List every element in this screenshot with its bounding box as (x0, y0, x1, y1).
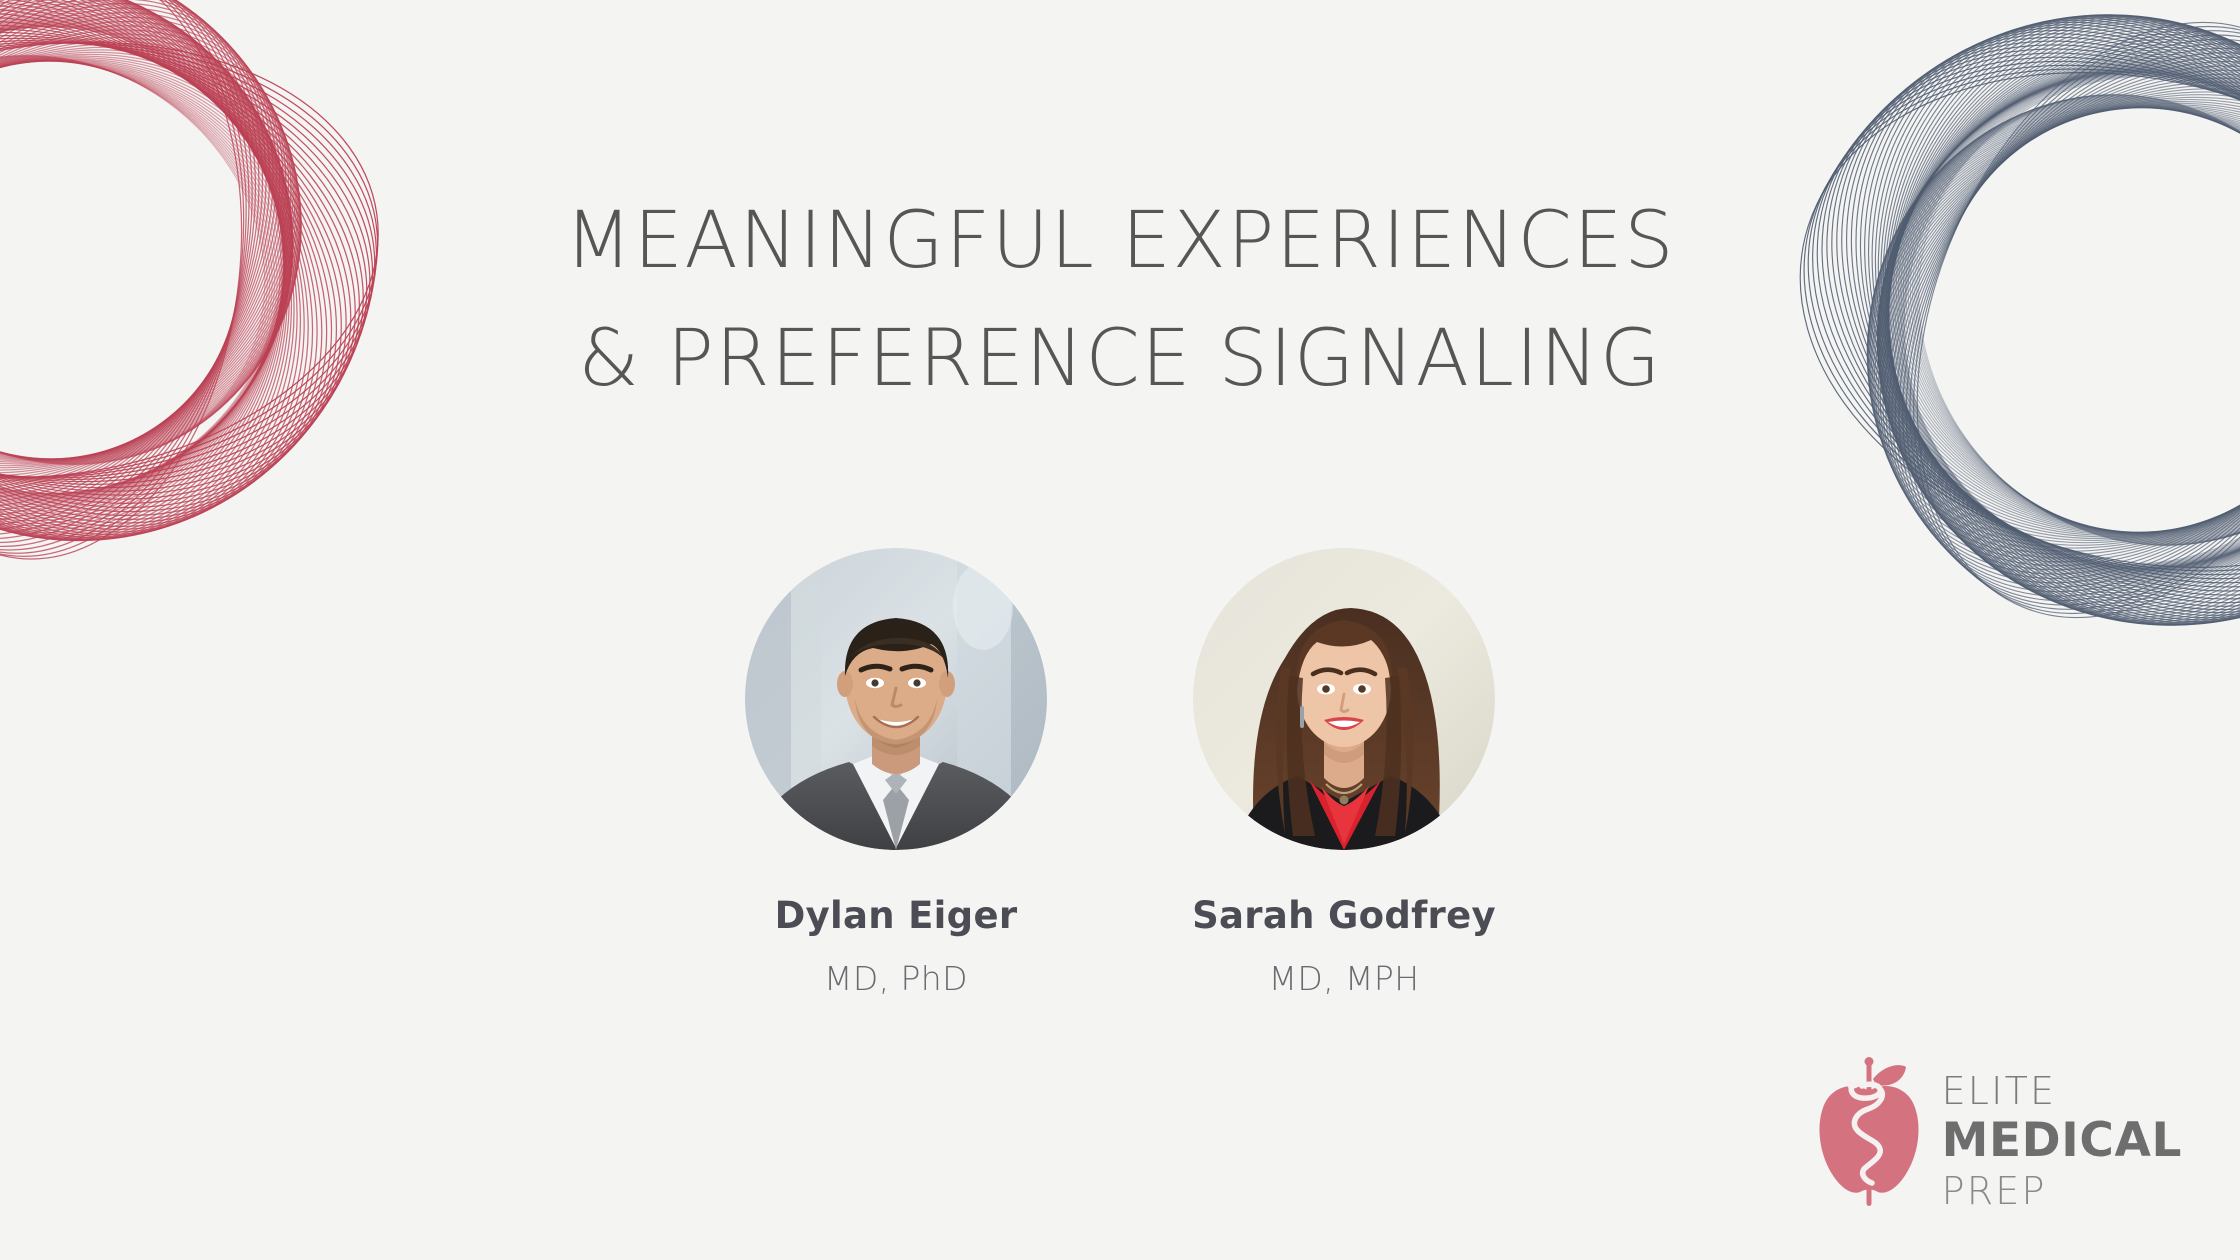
logo-text-elite: ELITE (1942, 1072, 2182, 1110)
logo-text-medical: MEDICAL (1942, 1117, 2182, 1164)
speakers-row: Dylan Eiger MD, PhD (0, 548, 2240, 998)
slide-title: MEANINGFUL EXPERIENCES & PREFERENCE SIGN… (0, 182, 2240, 418)
avatar-dylan-eiger (745, 548, 1047, 850)
speaker-name: Sarah Godfrey (1192, 894, 1496, 937)
elite-medical-prep-logo: ELITE MEDICAL PREP (1810, 1053, 2182, 1228)
logo-text-prep: PREP (1942, 1172, 2182, 1210)
speaker-card-dylan-eiger: Dylan Eiger MD, PhD (736, 548, 1056, 998)
speaker-credentials: MD, MPH (1269, 959, 1420, 998)
speaker-name: Dylan Eiger (775, 894, 1018, 937)
apple-caduceus-icon (1810, 1053, 1928, 1228)
title-line-2: & PREFERENCE SIGNALING (0, 300, 2240, 418)
speaker-credentials: MD, PhD (824, 959, 968, 998)
logo-wordmark: ELITE MEDICAL PREP (1942, 1072, 2182, 1210)
title-line-1: MEANINGFUL EXPERIENCES (0, 182, 2240, 300)
avatar-sarah-godfrey (1193, 548, 1495, 850)
presentation-slide: MEANINGFUL EXPERIENCES & PREFERENCE SIGN… (0, 0, 2240, 1260)
speaker-card-sarah-godfrey: Sarah Godfrey MD, MPH (1184, 548, 1504, 998)
